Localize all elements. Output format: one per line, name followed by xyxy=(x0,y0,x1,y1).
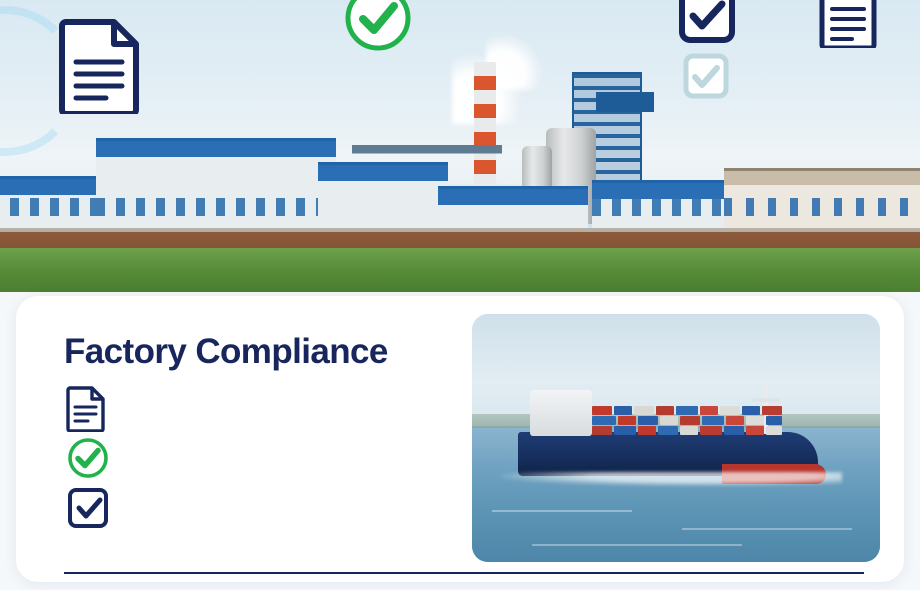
building-windows xyxy=(724,198,920,216)
shipping-container xyxy=(618,416,636,425)
shipping-container xyxy=(680,426,698,435)
water-glint xyxy=(682,528,852,530)
shipping-container xyxy=(660,416,678,425)
factory-compliance-card: Factory Compliance xyxy=(16,296,904,582)
shipping-container xyxy=(746,426,764,435)
shipping-container xyxy=(634,406,654,415)
shipping-container xyxy=(676,406,698,415)
shipping-container xyxy=(592,406,612,415)
ship-wake xyxy=(502,472,842,486)
shipping-container xyxy=(614,426,636,435)
shipping-container xyxy=(700,426,722,435)
shipping-container xyxy=(742,406,760,415)
checkbox-checked-icon xyxy=(66,517,110,534)
shipping-container xyxy=(614,406,632,415)
list-item xyxy=(66,486,110,536)
shipping-container xyxy=(680,416,700,425)
shipping-container xyxy=(720,406,740,415)
tower-platform xyxy=(596,92,654,112)
checkbox-light-icon xyxy=(682,52,730,105)
water-glint xyxy=(532,544,742,546)
shipping-container xyxy=(592,426,612,435)
document-lines-icon xyxy=(818,0,880,53)
poster-root: Factory Compliance xyxy=(0,0,920,590)
building-windows xyxy=(592,198,732,216)
warehouse-building xyxy=(96,138,336,234)
ship-crossbeam xyxy=(752,398,780,402)
water-glint xyxy=(492,510,632,512)
compliance-icon-list xyxy=(66,386,110,536)
building-windows xyxy=(96,198,336,216)
shipping-container xyxy=(724,426,744,435)
shipping-container xyxy=(700,406,718,415)
shipping-container xyxy=(726,416,744,425)
shipping-container xyxy=(702,416,724,425)
document-icon xyxy=(58,18,144,119)
shipping-container xyxy=(766,416,782,425)
shipping-container xyxy=(746,416,764,425)
document-icon xyxy=(66,419,106,436)
shipping-container xyxy=(658,426,678,435)
warehouse-building xyxy=(724,168,920,234)
ship-superstructure xyxy=(530,390,592,436)
shipping-container xyxy=(656,406,674,415)
warehouse-building xyxy=(318,162,448,234)
page-title: Factory Compliance xyxy=(64,332,388,372)
container-ship-photo xyxy=(472,314,880,562)
container-stack xyxy=(592,406,784,436)
checkbox-checked-icon xyxy=(676,0,738,51)
shipping-container xyxy=(638,426,656,435)
shipping-container xyxy=(638,416,658,425)
card-divider xyxy=(64,572,864,574)
warehouse-building xyxy=(592,180,732,234)
shipping-container xyxy=(762,406,782,415)
shipping-container xyxy=(766,426,782,435)
shipping-container xyxy=(592,416,616,425)
list-item xyxy=(66,386,110,436)
check-circle-icon xyxy=(342,0,414,59)
warehouse-building xyxy=(438,186,588,234)
list-item xyxy=(66,436,110,486)
check-circle-icon xyxy=(66,467,110,484)
grass-strip xyxy=(0,248,920,292)
